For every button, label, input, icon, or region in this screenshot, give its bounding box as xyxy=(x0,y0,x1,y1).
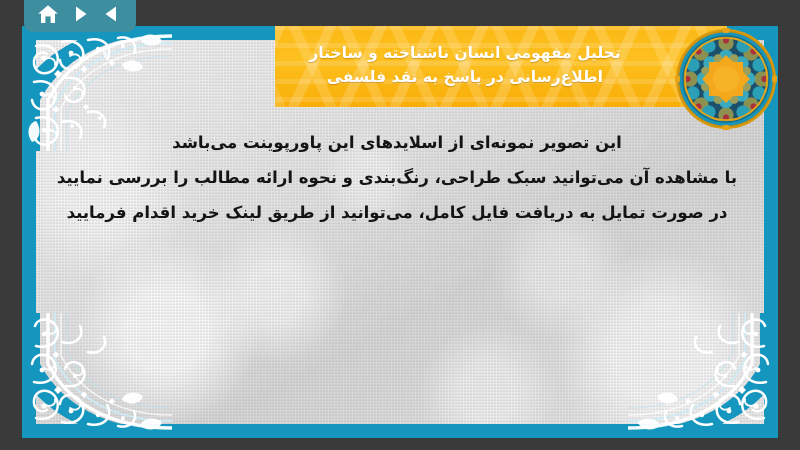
body-line-1: این تصویر نمونه‌ای از اسلایدهای این پاور… xyxy=(40,126,754,161)
title-banner: تحلیل مفهومی انسان ناشناخته و ساختار اطل… xyxy=(275,26,727,107)
home-button[interactable] xyxy=(35,2,61,26)
home-icon xyxy=(37,4,59,25)
navigation-toolbar xyxy=(24,0,136,32)
slide-canvas: تحلیل مفهومی انسان ناشناخته و ساختار اطل… xyxy=(22,26,778,438)
slide-title: تحلیل مفهومی انسان ناشناخته و ساختار اطل… xyxy=(275,26,727,107)
next-slide-button[interactable] xyxy=(67,2,93,26)
slide-body-text: این تصویر نمونه‌ای از اسلایدهای این پاور… xyxy=(40,126,760,231)
triangle-right-icon xyxy=(70,4,90,24)
page-title-line-2: اطلاع‌رسانی در پاسخ به نقد فلسفی xyxy=(327,66,603,88)
previous-slide-button[interactable] xyxy=(99,2,125,26)
body-line-2: با مشاهده آن می‌توانید سبک طراحی، رنگ‌بن… xyxy=(40,161,754,196)
triangle-left-icon xyxy=(102,4,122,24)
body-line-3: در صورت تمایل به دریافت فایل کامل، می‌تو… xyxy=(40,196,754,231)
page-title-line-1: تحلیل مفهومی انسان ناشناخته و ساختار xyxy=(309,42,620,64)
slide-viewer: تحلیل مفهومی انسان ناشناخته و ساختار اطل… xyxy=(0,0,800,450)
